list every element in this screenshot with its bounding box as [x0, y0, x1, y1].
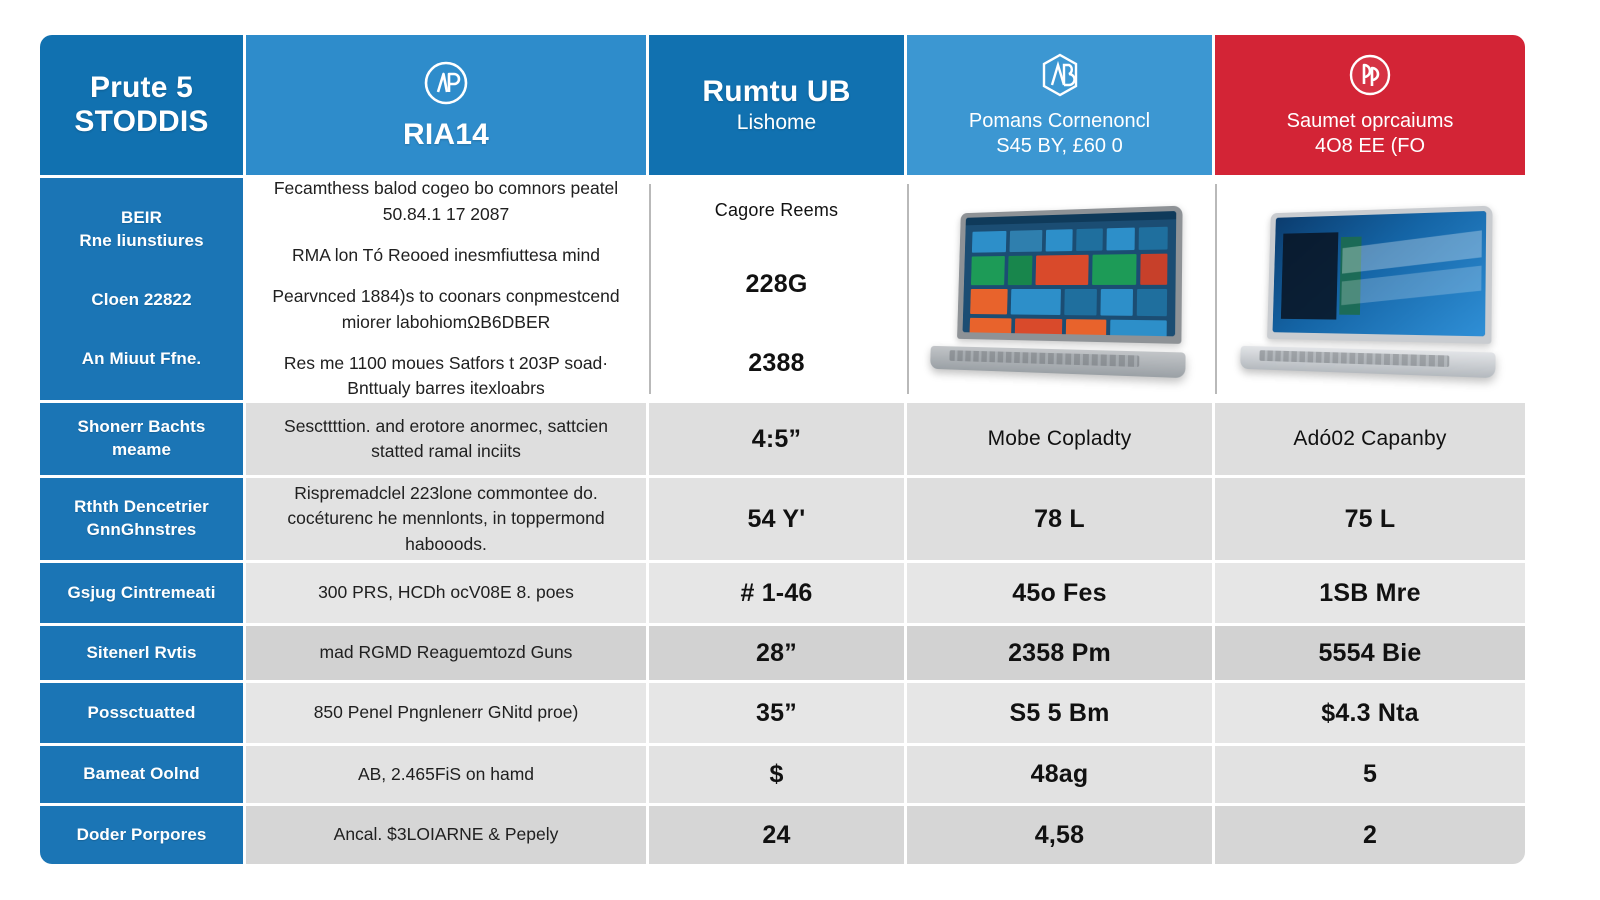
row-1-col5-cell: Adó02 Capanby	[1215, 403, 1525, 475]
row-6-col5-cell: 5	[1215, 746, 1525, 803]
header-cell-rumtu-ub: Rumtu UB Lishome	[649, 35, 904, 175]
header-cell-saumet: Saumet oprcaiums 4O8 EE (FO	[1215, 35, 1525, 175]
row-0-col3-value1: 228G	[746, 268, 808, 301]
row-7-col5-value: 2	[1363, 819, 1377, 852]
row-6-desc: AB, 2.465FiS on hamd	[358, 762, 534, 787]
row-4-col4-value: 2358 Pm	[1008, 637, 1111, 670]
row-1-col5-value: Adó02 Capanby	[1293, 425, 1446, 452]
column-divider	[649, 184, 651, 394]
row-4-col5-cell: 5554 Bie	[1215, 626, 1525, 680]
row-2-col3-cell: 54 Y'	[649, 478, 904, 560]
row-7-description-cell: Ancal. $3LOIARNE & Pepely	[246, 806, 646, 864]
row-6-col3-value: $	[769, 758, 783, 791]
header-sub-saumet: Saumet oprcaiums	[1287, 109, 1454, 134]
row-3-desc: 300 PRS, HCDh ocV08E 8. poes	[318, 580, 574, 605]
row-1-col4-cell: Mobe Copladty	[907, 403, 1212, 475]
laptop-tiles-image	[921, 186, 1198, 392]
row-5-col5-value: $4.3 Nta	[1321, 697, 1419, 730]
row-5-desc: 850 Penel Pngnlenerr GNitd proe)	[314, 700, 579, 725]
row-0-col4-cell	[907, 178, 1212, 400]
row-2-description-cell: Rispremadclel 223lone commontee do. cocé…	[246, 478, 646, 560]
row-5-col4-value: S5 5 Bm	[1009, 697, 1109, 730]
row-7-col3-cell: 24	[649, 806, 904, 864]
row-5-description-cell: 850 Penel Pngnlenerr GNitd proe)	[246, 683, 646, 743]
laptop-win10-image	[1229, 186, 1511, 392]
row-3-col4-cell: 45o Fes	[907, 563, 1212, 623]
row-3-col3-cell: # 1-46	[649, 563, 904, 623]
row-4-col3-value: 28”	[756, 637, 797, 670]
row-5-col3-cell: 35”	[649, 683, 904, 743]
row-7-col5-cell: 2	[1215, 806, 1525, 864]
row-1-col3-cell: 4:5”	[649, 403, 904, 475]
ab-hex-logo-icon	[1037, 52, 1083, 103]
header-sub2-pomans: S45 BY, £60 0	[996, 134, 1122, 159]
row-7-desc: Ancal. $3LOIARNE & Pepely	[334, 822, 559, 847]
row-6-col5-value: 5	[1363, 758, 1377, 791]
header-sub2-saumet: 4O8 EE (FO	[1315, 134, 1425, 159]
row-label-0-line2: Rne liunstiures	[79, 231, 203, 250]
row-4-col5-value: 5554 Bie	[1318, 637, 1421, 670]
row-2-col3-value: 54 Y'	[748, 503, 806, 536]
row-2-col5-value: 75 L	[1345, 503, 1396, 536]
header-title-line2: STODDIS	[74, 105, 208, 139]
row-1-col3-value: 4:5”	[752, 423, 801, 456]
row-2-col5-cell: 75 L	[1215, 478, 1525, 560]
row-label-3: Gsjug Cintremeati	[40, 563, 243, 623]
row-label-0: BEIR Rne liunstiures Cloen 22822 An Miuu…	[40, 178, 243, 400]
row-7-col3-value: 24	[762, 819, 790, 852]
row-label-2: Rthth Dencetrier GnnGhnstres	[40, 478, 243, 560]
row-7-col4-cell: 4,58	[907, 806, 1212, 864]
row-0-description-cell: Fecamthess balod cogeo bo comnors peatel…	[246, 178, 646, 400]
ap-circle-logo-icon	[422, 59, 470, 112]
row-6-description-cell: AB, 2.465FiS on hamd	[246, 746, 646, 803]
comparison-table-page: Prute 5 STODDIS RIA14 Rumtu UB Lishome	[0, 0, 1600, 900]
column-divider	[1215, 184, 1217, 394]
row-2-col4-value: 78 L	[1034, 503, 1085, 536]
row-3-col3-value: # 1-46	[740, 577, 812, 610]
row-4-desc: mad RGMD Reaguemtozd Guns	[320, 640, 573, 665]
row-5-col5-cell: $4.3 Nta	[1215, 683, 1525, 743]
row-label-6: Bameat Oolnd	[40, 746, 243, 803]
row-label-4: Sitenerl Rvtis	[40, 626, 243, 680]
row-5-col3-value: 35”	[756, 697, 797, 730]
row-0-desc-line4: Res me 1100 moues Satfors t 203P soad· B…	[260, 351, 632, 400]
header-sub-lishome: Lishome	[737, 110, 816, 135]
row-1-col4-value: Mobe Copladty	[988, 425, 1132, 452]
row-4-col3-cell: 28”	[649, 626, 904, 680]
row-3-col5-cell: 1SB Mre	[1215, 563, 1525, 623]
row-3-col5-value: 1SB Mre	[1319, 577, 1420, 610]
header-sub-pomans: Pomans Cornenoncl	[969, 109, 1150, 134]
row-6-col4-cell: 48ag	[907, 746, 1212, 803]
row-4-description-cell: mad RGMD Reaguemtozd Guns	[246, 626, 646, 680]
header-cell-features: Prute 5 STODDIS	[40, 35, 243, 175]
header-cell-pomans: Pomans Cornenoncl S45 BY, £60 0	[907, 35, 1212, 175]
row-2-col4-cell: 78 L	[907, 478, 1212, 560]
row-3-col4-value: 45o Fes	[1012, 577, 1107, 610]
row-label-0-line4: An Miuut Ffne.	[82, 348, 201, 371]
comparison-table: Prute 5 STODDIS RIA14 Rumtu UB Lishome	[40, 35, 1562, 855]
header-title-line1: Prute 5	[90, 71, 193, 105]
row-6-col3-cell: $	[649, 746, 904, 803]
row-label-5: Possctuatted	[40, 683, 243, 743]
row-0-desc-line2: RMA lon Tó Reooed inesmfiuttesa mind	[292, 243, 600, 268]
row-0-col3-value2: 2388	[748, 347, 804, 380]
row-0-col3-cell: Cagore Reems 228G 2388	[649, 178, 904, 400]
row-5-col4-cell: S5 5 Bm	[907, 683, 1212, 743]
row-4-col4-cell: 2358 Pm	[907, 626, 1212, 680]
row-7-col4-value: 4,58	[1035, 819, 1084, 852]
row-label-7: Doder Porpores	[40, 806, 243, 864]
header-title-ria14: RIA14	[403, 118, 489, 152]
row-label-0-line1: BEIR	[121, 208, 162, 227]
row-3-description-cell: 300 PRS, HCDh ocV08E 8. poes	[246, 563, 646, 623]
row-1-desc: Sescttttion. and erotore anormec, sattci…	[260, 414, 632, 465]
header-title-rumtu: Rumtu UB	[702, 75, 850, 109]
row-1-description-cell: Sescttttion. and erotore anormec, sattci…	[246, 403, 646, 475]
row-0-desc-line3: Pearvnced 1884)s to coonars conpmestcend…	[260, 284, 632, 335]
row-label-0-line3: Cloen 22822	[91, 289, 191, 312]
header-cell-ria14: RIA14	[246, 35, 646, 175]
row-2-desc: Rispremadclel 223lone commontee do. cocé…	[260, 481, 632, 557]
row-0-col5-cell	[1215, 178, 1525, 400]
row-0-desc-line1: Fecamthess balod cogeo bo comnors peatel…	[260, 178, 632, 227]
row-6-col4-value: 48ag	[1031, 758, 1089, 791]
row-0-col3-label: Cagore Reems	[715, 199, 838, 222]
row-label-1: Shonerr Bachts meame	[40, 403, 243, 475]
column-divider	[907, 184, 909, 394]
bp-circle-logo-icon	[1347, 52, 1393, 103]
